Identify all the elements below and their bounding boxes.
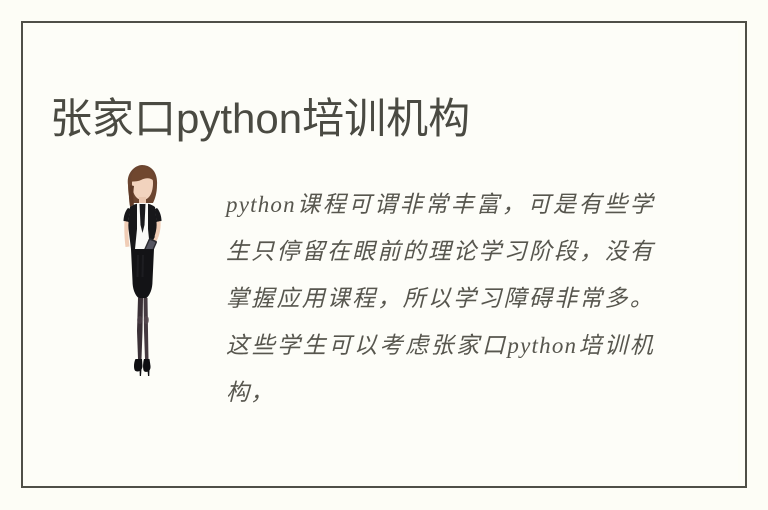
presenter-photo <box>108 163 174 405</box>
article-content-area: 张家口python培训机构 <box>30 30 738 480</box>
article-card-page: 张家口python培训机构 <box>0 0 768 510</box>
woman-with-phone-illustration <box>108 163 174 405</box>
article-body-paragraph: python课程可谓非常丰富，可是有些学生只停留在眼前的理论学习阶段，没有掌握应… <box>226 181 654 416</box>
page-title: 张家口python培训机构 <box>50 95 470 143</box>
